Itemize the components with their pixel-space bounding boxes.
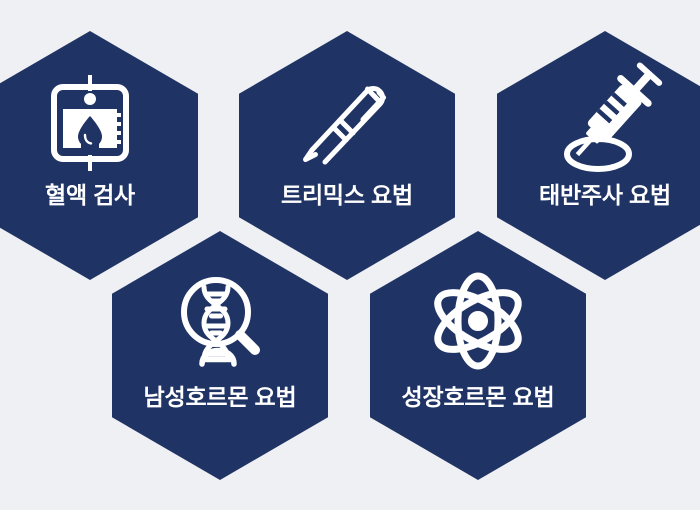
hex-label-blood-test: 혈액 검사	[45, 183, 135, 208]
hex-label-testosterone: 남성호르몬 요법	[144, 385, 297, 410]
pen-icon	[297, 73, 397, 173]
hexagon-grid: 혈액 검사 트리믹스 요	[0, 0, 700, 510]
hex-cell-testosterone[interactable]: 남성호르몬 요법	[112, 231, 328, 480]
hex-cell-placenta-injection[interactable]: 태반주사 요법	[497, 31, 700, 280]
hex-cell-growth-hormone[interactable]: 성장호르몬 요법	[370, 231, 586, 480]
hex-label-growth-hormone: 성장호르몬 요법	[402, 385, 555, 410]
atom-icon	[428, 271, 528, 371]
hex-cell-blood-test[interactable]: 혈액 검사	[0, 31, 198, 280]
hex-cell-trimix[interactable]: 트리믹스 요법	[239, 31, 455, 280]
syringe-icon	[555, 73, 655, 173]
dna-magnifier-icon	[170, 271, 270, 371]
hex-label-placenta-injection: 태반주사 요법	[539, 183, 671, 208]
blood-bag-icon	[40, 73, 140, 173]
hex-label-trimix: 트리믹스 요법	[281, 183, 413, 208]
